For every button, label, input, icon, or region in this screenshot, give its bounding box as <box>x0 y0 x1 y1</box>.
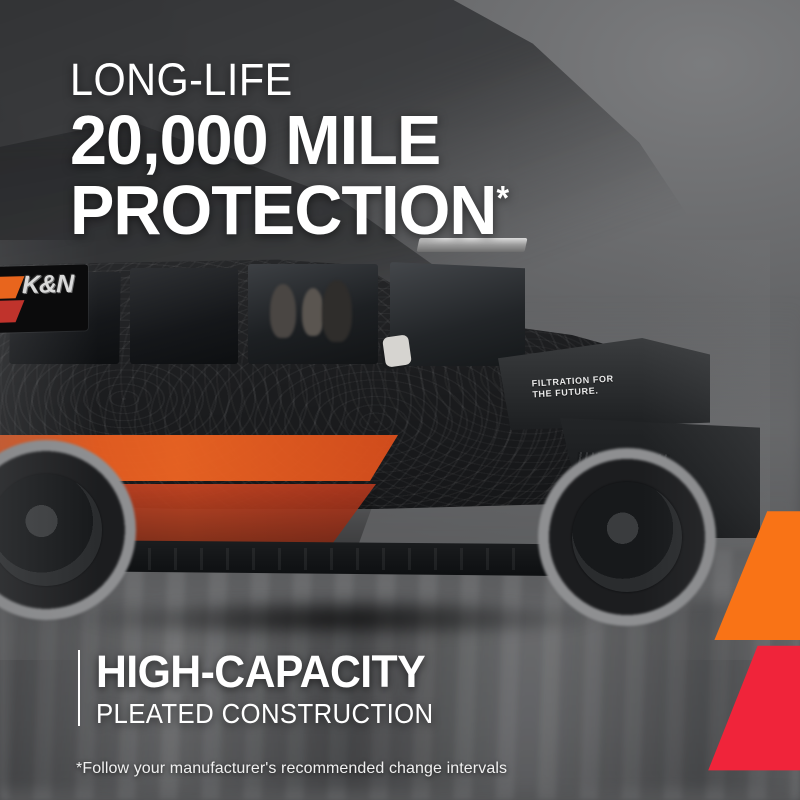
vehicle-windshield <box>390 262 525 366</box>
footnote-text: *Follow your manufacturer's recommended … <box>76 760 507 778</box>
front-rim <box>572 482 682 592</box>
vehicle-occupant-driver <box>322 280 352 342</box>
vehicle-occupant-middle <box>302 288 324 336</box>
vehicle-suv: FILTRATION FOR THE FUTURE. <box>0 240 770 660</box>
kn-logo-chevron-orange <box>0 276 24 300</box>
vehicle-occupant-passenger <box>270 284 296 338</box>
vehicle-side-mirror <box>382 334 412 367</box>
headline-footnote-marker: * <box>496 180 508 218</box>
subhead-block: HIGH-CAPACITY PLEATED CONSTRUCTION <box>78 648 463 730</box>
vehicle-window-rear-door <box>130 268 238 364</box>
headline-line-2-text: PROTECTION <box>70 171 496 249</box>
subhead-sub: PLEATED CONSTRUCTION <box>96 698 434 730</box>
headline-line-1: 20,000 MILE <box>70 106 508 174</box>
subhead-vertical-rule <box>78 650 80 726</box>
headline-kicker: LONG-LIFE <box>70 56 494 104</box>
advertisement-canvas: FILTRATION FOR THE FUTURE. K&N LONG-LIFE… <box>0 0 800 800</box>
subhead-main: HIGH-CAPACITY <box>96 648 445 696</box>
kn-logo-badge: K&N <box>0 264 88 333</box>
vehicle-front-wheel <box>538 448 716 626</box>
kn-logo-text: K&N <box>22 271 73 298</box>
headline-block: LONG-LIFE 20,000 MILE PROTECTION* <box>70 56 531 244</box>
kn-logo-chevron-red <box>0 300 24 324</box>
vehicle-rocker-ribs <box>70 548 530 570</box>
headline-line-2: PROTECTION* <box>70 176 508 244</box>
